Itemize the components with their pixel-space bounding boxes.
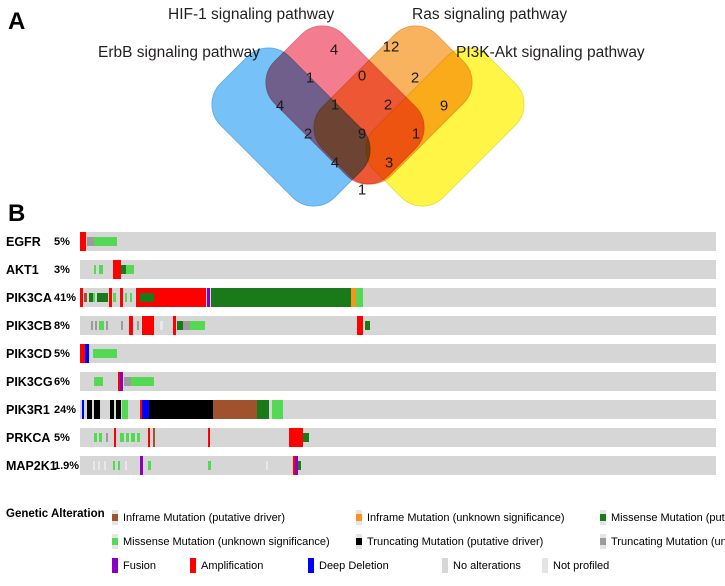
alteration-mis-unk[interactable] xyxy=(99,433,102,442)
alteration-amp[interactable] xyxy=(114,428,116,447)
alteration-trunc-unk[interactable] xyxy=(137,321,139,330)
oncoprint-row: PIK3CG6% xyxy=(0,368,725,396)
alteration-mis-unk[interactable] xyxy=(113,293,116,302)
gene-label: PIK3CA xyxy=(6,291,52,305)
venn-label-hif1: HIF-1 signaling pathway xyxy=(168,6,334,24)
alteration-mis-unk[interactable] xyxy=(126,265,134,274)
legend-swatch-truncating-putative-driver xyxy=(356,534,362,549)
alteration-amp[interactable] xyxy=(148,428,150,447)
alteration-mis-unk[interactable] xyxy=(190,321,205,330)
alteration-mis-unk[interactable] xyxy=(131,433,135,442)
alteration-trunc-unk[interactable] xyxy=(106,321,108,330)
alteration-mis-unk[interactable] xyxy=(122,400,128,419)
alteration-notprof[interactable] xyxy=(93,461,95,470)
legend-item-missense-putative-driver: Missense Mutation (putative driver) xyxy=(600,510,725,525)
alteration-fusion[interactable] xyxy=(207,288,210,307)
alteration-fusion[interactable] xyxy=(140,456,143,475)
venn-count-all-four: 9 xyxy=(358,126,366,143)
legend-label: Missense Mutation (unknown significance) xyxy=(123,536,330,548)
alteration-mis-driver[interactable] xyxy=(365,321,370,330)
gene-alteration-percentage: 6% xyxy=(54,376,70,388)
legend-item-not-profiled: Not profiled xyxy=(542,558,609,573)
oncoprint-row: PIK3CA41% xyxy=(0,284,725,312)
legend-label: Inframe Mutation (unknown significance) xyxy=(367,512,564,524)
gene-label: MAP2K1 xyxy=(6,459,57,473)
alteration-amp[interactable] xyxy=(173,316,176,335)
alteration-amp[interactable] xyxy=(80,288,83,307)
alteration-amp[interactable] xyxy=(109,288,112,307)
legend-title: Genetic Alteration xyxy=(6,508,105,520)
legend-swatch-missense-unknown-significance xyxy=(112,534,118,549)
gene-alteration-percentage: 5% xyxy=(54,236,70,248)
alteration-fusion[interactable] xyxy=(120,372,123,391)
oncoprint-row: PIK3CD5% xyxy=(0,340,725,368)
alteration-mis-unk[interactable] xyxy=(137,433,140,442)
venn-count-erbb-ras-pi3k: 1 xyxy=(412,126,420,143)
gene-alteration-percentage: 5% xyxy=(54,348,70,360)
alteration-trunc-unk[interactable] xyxy=(87,237,94,246)
alteration-amp[interactable] xyxy=(129,316,133,335)
gene-alteration-percentage: 1.9% xyxy=(54,460,79,472)
legend-swatch-deep-deletion xyxy=(308,558,314,573)
alteration-mis-unk[interactable] xyxy=(130,293,132,302)
gene-alteration-percentage: 41% xyxy=(54,292,76,304)
alteration-trunc-driver[interactable] xyxy=(94,400,100,419)
gene-label: PIK3CG xyxy=(6,375,53,389)
alteration-mis-driver[interactable] xyxy=(303,433,309,442)
venn-count-ras-pi3k: 2 xyxy=(411,70,419,87)
alteration-amp[interactable] xyxy=(113,260,121,279)
alteration-amp[interactable] xyxy=(289,428,303,447)
venn-count-hif1-ras-pi3k: 2 xyxy=(384,97,392,114)
venn-count-hif1-ras: 0 xyxy=(358,68,366,85)
gene-alteration-percentage: 5% xyxy=(54,432,70,444)
legend: Genetic Alteration Inframe Mutation (put… xyxy=(0,500,725,586)
venn-count-pi3k-only: 9 xyxy=(440,98,448,115)
alteration-mis-unk[interactable] xyxy=(93,349,117,358)
alteration-notprof[interactable] xyxy=(98,461,100,470)
oncoprint-track[interactable] xyxy=(80,316,716,335)
alteration-deldeep[interactable] xyxy=(82,400,84,419)
oncoprint: EGFR5%AKT13%PIK3CA41%PIK3CB8%PIK3CD5%PIK… xyxy=(0,228,725,496)
legend-item-amplification: Amplification xyxy=(190,558,263,573)
venn-diagram: 4 12 1 0 2 4 1 2 9 2 9 1 4 3 1 xyxy=(248,30,480,210)
gene-alteration-percentage: 8% xyxy=(54,320,70,332)
alteration-trunc-driver[interactable] xyxy=(87,400,92,419)
venn-count-erbb-only: 4 xyxy=(276,98,284,115)
alteration-mis-unk[interactable] xyxy=(93,293,95,302)
alteration-deldeep[interactable] xyxy=(85,344,89,363)
gene-label: PIK3R1 xyxy=(6,403,50,417)
legend-swatch-not-profiled xyxy=(542,558,548,573)
legend-swatch-inframe-putative-driver xyxy=(112,510,118,525)
alteration-mis-driver[interactable] xyxy=(140,293,154,302)
gene-label: PIK3CD xyxy=(6,347,52,361)
oncoprint-row: PIK3R124% xyxy=(0,396,725,424)
legend-swatch-missense-putative-driver xyxy=(600,510,606,525)
panel-a-venn: A HIF-1 signaling pathway Ras signaling … xyxy=(0,0,725,212)
alteration-mis-unk[interactable] xyxy=(208,461,211,470)
legend-label: Not profiled xyxy=(553,560,609,572)
alteration-trunc-driver[interactable] xyxy=(149,400,213,419)
alteration-trunc-driver[interactable] xyxy=(116,400,121,419)
alteration-deldeep[interactable] xyxy=(142,400,149,419)
legend-item-truncating-putative-driver: Truncating Mutation (putative driver) xyxy=(356,534,543,549)
legend-label: Amplification xyxy=(201,560,263,572)
legend-label: Missense Mutation (putative driver) xyxy=(611,512,725,524)
legend-swatch-fusion xyxy=(112,558,118,573)
oncoprint-row: PRKCA5% xyxy=(0,424,725,452)
venn-count-hif1-only: 4 xyxy=(330,42,338,59)
venn-count-erbb-hif1: 1 xyxy=(306,70,314,87)
legend-label: Truncating Mutation (putative driver) xyxy=(367,536,543,548)
alteration-mis-unk[interactable] xyxy=(131,377,154,386)
alteration-amp[interactable] xyxy=(142,316,154,335)
alteration-mis-driver[interactable] xyxy=(211,288,351,307)
legend-label: Inframe Mutation (putative driver) xyxy=(123,512,285,524)
alteration-notprof[interactable] xyxy=(266,461,268,470)
gene-alteration-percentage: 24% xyxy=(54,404,76,416)
legend-item-deep-deletion: Deep Deletion xyxy=(308,558,389,573)
legend-swatch-inframe-unknown-significance xyxy=(356,510,362,525)
alteration-trunc-driver[interactable] xyxy=(110,400,114,419)
legend-item-truncating-unknown-significance: Truncating Mutation (unknown significanc… xyxy=(600,534,725,549)
oncoprint-track[interactable] xyxy=(80,456,716,475)
oncoprint-track[interactable] xyxy=(80,372,716,391)
oncoprint-row: AKT13% xyxy=(0,256,725,284)
alteration-trunc-unk[interactable] xyxy=(124,377,131,386)
oncoprint-row: MAP2K11.9% xyxy=(0,452,725,480)
venn-label-ras: Ras signaling pathway xyxy=(412,6,567,24)
alteration-notprof[interactable] xyxy=(160,321,163,330)
alteration-trunc-unk[interactable] xyxy=(106,433,108,442)
alteration-trunc-unk[interactable] xyxy=(121,321,123,330)
legend-item-missense-unknown-significance: Missense Mutation (unknown significance) xyxy=(112,534,330,549)
alteration-amp[interactable] xyxy=(80,232,86,251)
alteration-mis-unk[interactable] xyxy=(118,461,120,470)
oncoprint-row: EGFR5% xyxy=(0,228,725,256)
venn-count-bottom-pi3k: 1 xyxy=(358,182,366,199)
alteration-trunc-unk[interactable] xyxy=(91,321,93,330)
oncoprint-track[interactable] xyxy=(80,428,716,447)
gene-label: AKT1 xyxy=(6,263,39,277)
legend-label: Fusion xyxy=(123,560,156,572)
legend-swatch-amplification xyxy=(190,558,196,573)
alteration-trunc-unk[interactable] xyxy=(183,321,190,330)
alteration-mis-unk[interactable] xyxy=(113,461,115,470)
alteration-mis-unk[interactable] xyxy=(94,265,96,274)
alteration-mis-unk[interactable] xyxy=(99,321,104,330)
oncoprint-track[interactable] xyxy=(80,344,716,363)
panel-a-letter: A xyxy=(8,8,25,36)
alteration-mis-unk[interactable] xyxy=(99,265,103,274)
gene-label: EGFR xyxy=(6,235,41,249)
legend-item-inframe-putative-driver: Inframe Mutation (putative driver) xyxy=(112,510,285,525)
venn-label-erbb: ErbB signaling pathway xyxy=(98,44,260,62)
alteration-amp[interactable] xyxy=(357,316,363,335)
oncoprint-track[interactable] xyxy=(80,260,716,279)
alteration-mis-driver[interactable] xyxy=(97,293,108,302)
legend-item-fusion: Fusion xyxy=(112,558,156,573)
venn-count-ras-pi3k-low: 3 xyxy=(385,155,393,172)
legend-label: No alterations xyxy=(453,560,521,572)
oncoprint-track[interactable] xyxy=(80,232,716,251)
legend-item-no-alterations: No alterations xyxy=(442,558,521,573)
legend-label: Deep Deletion xyxy=(319,560,389,572)
alteration-inf-driver[interactable] xyxy=(84,293,87,302)
legend-label: Truncating Mutation (unknown significanc… xyxy=(611,536,725,548)
alteration-inf-driver[interactable] xyxy=(213,400,257,419)
alteration-amp[interactable] xyxy=(158,288,206,307)
alteration-mis-unk[interactable] xyxy=(125,293,127,302)
gene-alteration-percentage: 3% xyxy=(54,264,70,276)
panel-b-letter: B xyxy=(8,200,25,228)
alteration-mis-unk[interactable] xyxy=(272,400,283,419)
alteration-inf-driver[interactable] xyxy=(153,428,155,447)
alteration-mis-driver[interactable] xyxy=(257,400,269,419)
alteration-mis-unk[interactable] xyxy=(94,377,103,386)
alteration-mis-unk[interactable] xyxy=(94,237,117,246)
alteration-notprof[interactable] xyxy=(125,461,127,470)
alteration-notprof[interactable] xyxy=(104,461,106,470)
alteration-mis-driver[interactable] xyxy=(298,461,301,470)
alteration-mis-unk[interactable] xyxy=(120,433,124,442)
gene-label: PRKCA xyxy=(6,431,50,445)
oncoprint-track[interactable] xyxy=(80,288,716,307)
venn-count-erbb-pi3k-low: 4 xyxy=(331,155,339,172)
legend-item-inframe-unknown-significance: Inframe Mutation (unknown significance) xyxy=(356,510,564,525)
alteration-mis-unk[interactable] xyxy=(356,288,363,307)
alteration-trunc-unk[interactable] xyxy=(95,321,97,330)
oncoprint-row: PIK3CB8% xyxy=(0,312,725,340)
alteration-mis-unk[interactable] xyxy=(94,433,97,442)
alteration-amp[interactable] xyxy=(120,288,123,307)
alteration-amp[interactable] xyxy=(208,428,210,447)
legend-swatch-truncating-unknown-significance xyxy=(600,534,606,549)
alteration-mis-unk[interactable] xyxy=(126,433,129,442)
venn-count-erbb-hif1-pi3k: 2 xyxy=(304,126,312,143)
venn-count-erbb-hif1-ras: 1 xyxy=(331,97,339,114)
venn-count-ras-only: 12 xyxy=(383,39,400,56)
alteration-mis-unk[interactable] xyxy=(148,461,151,470)
legend-swatch-no-alterations xyxy=(442,558,448,573)
gene-label: PIK3CB xyxy=(6,319,52,333)
oncoprint-track[interactable] xyxy=(80,400,716,419)
